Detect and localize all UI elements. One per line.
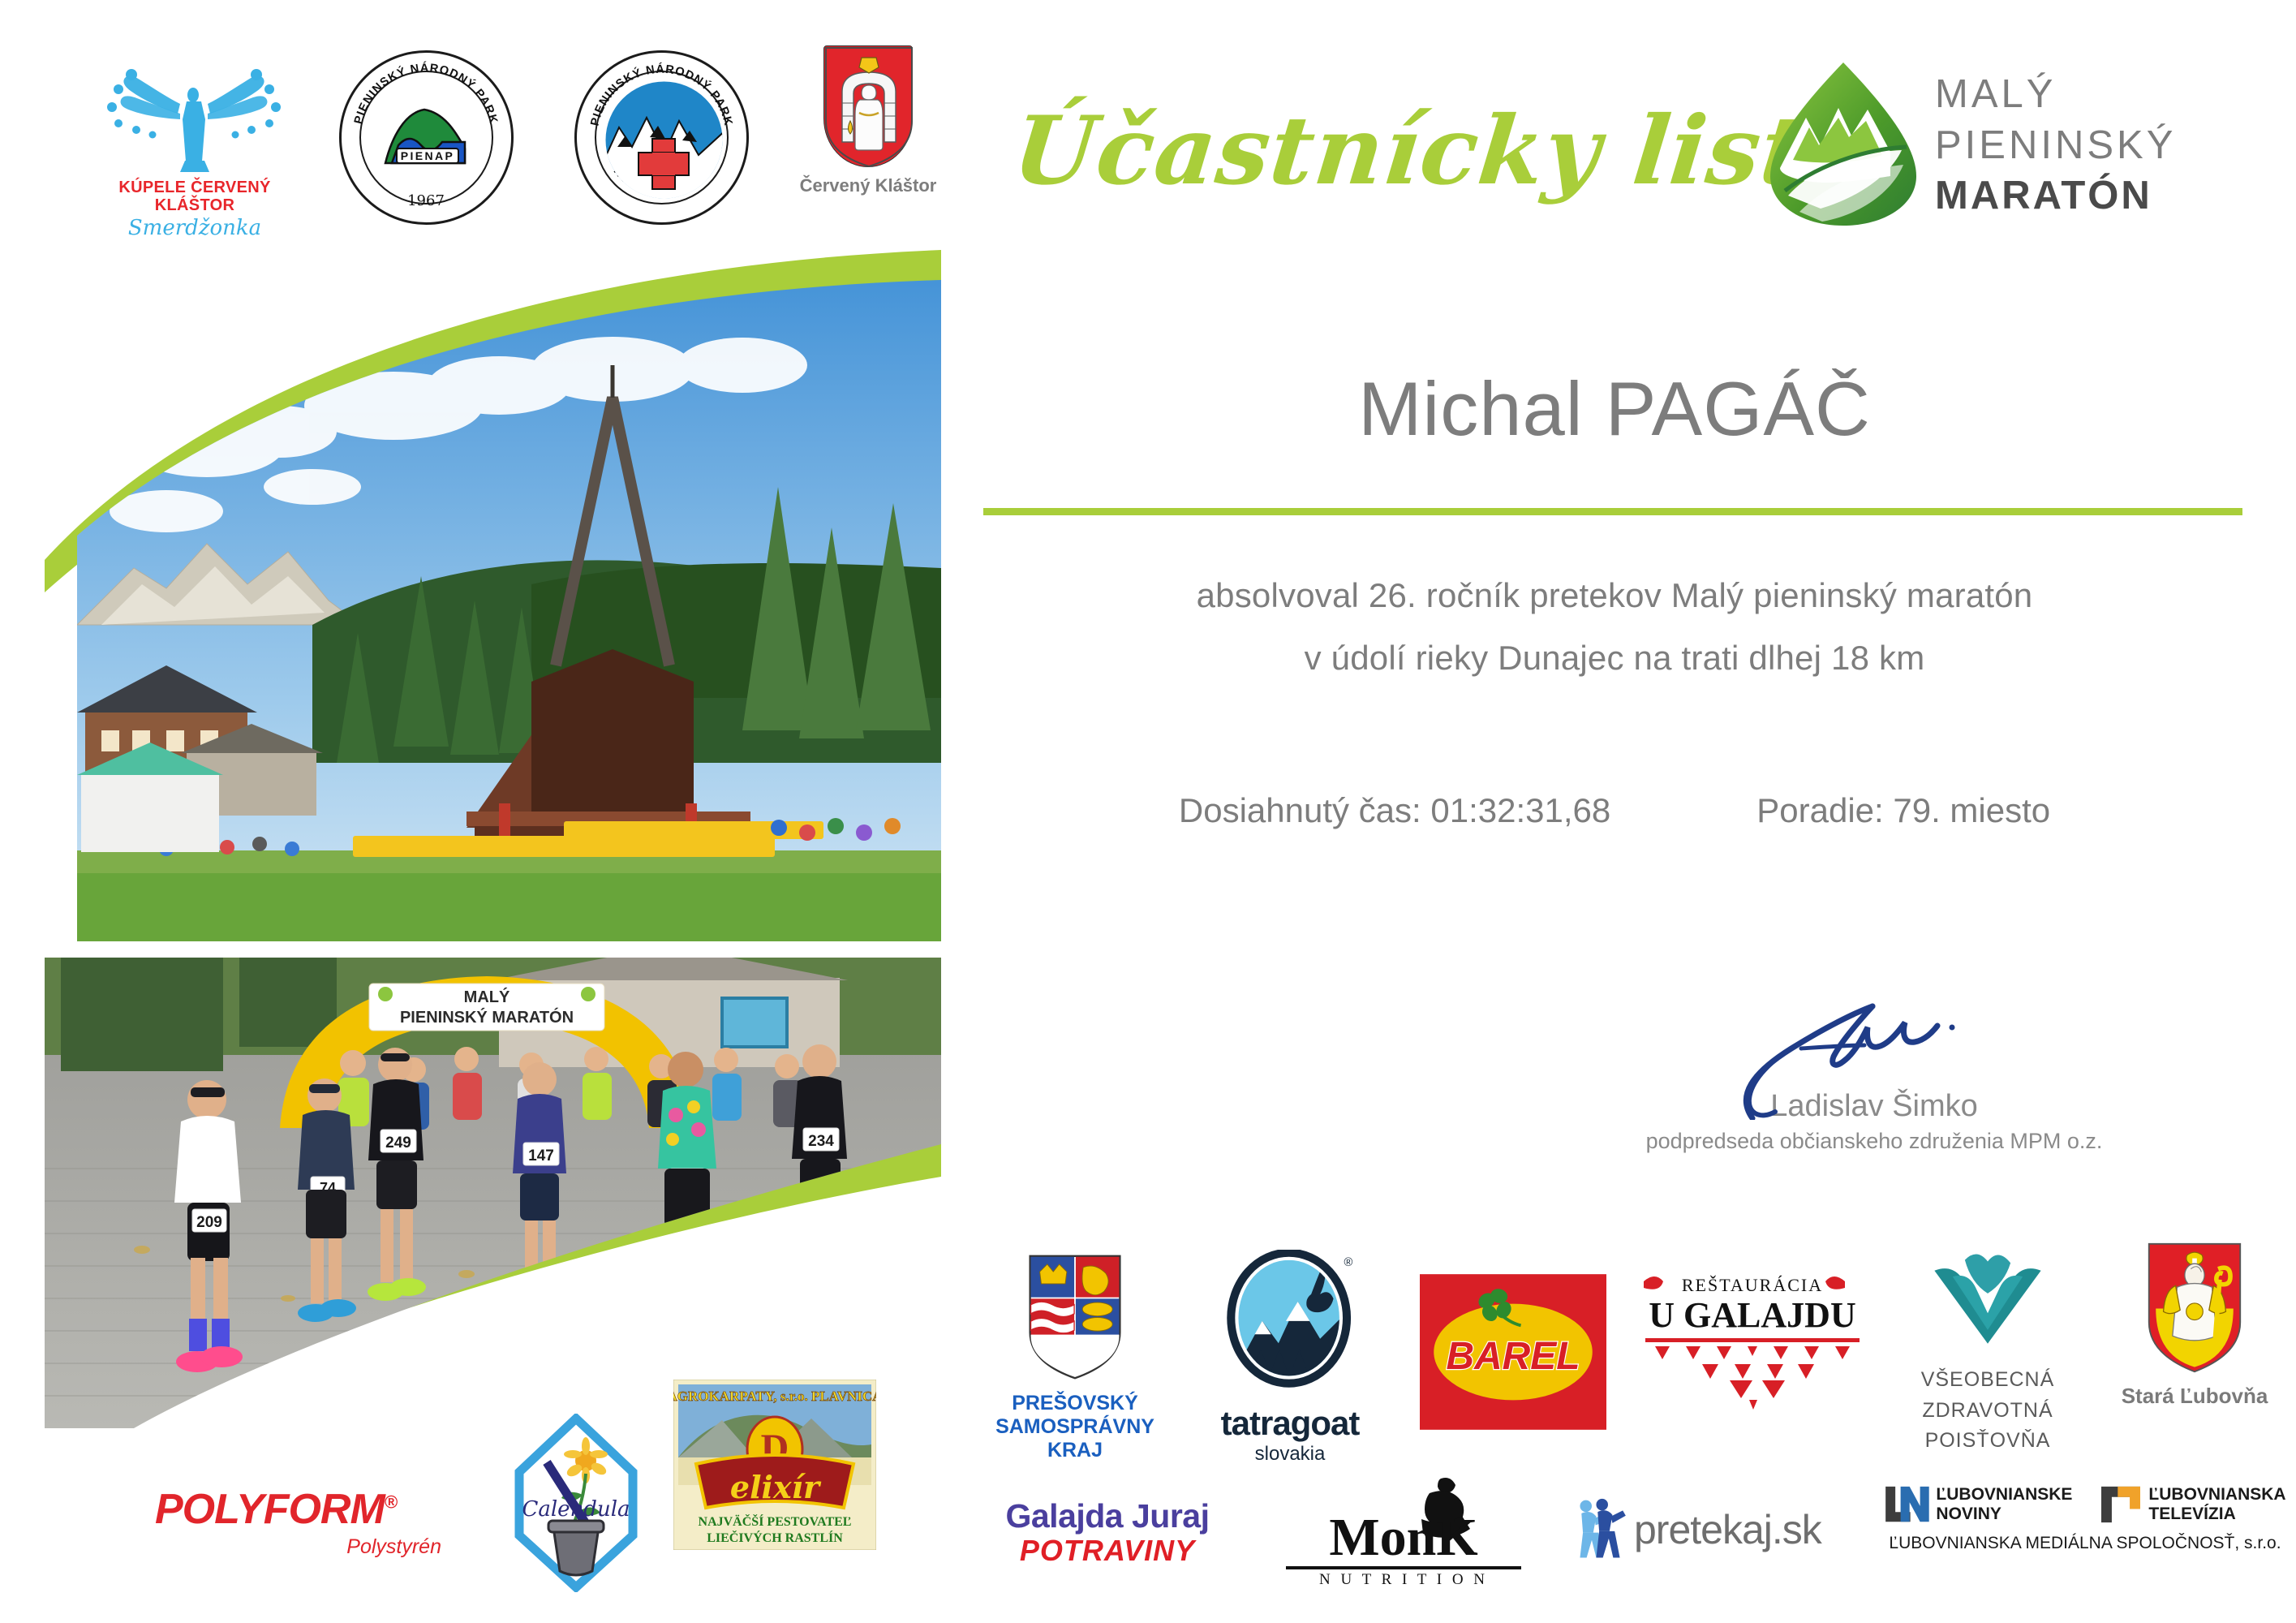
- rank: Poradie: 79. miesto: [1756, 791, 2050, 830]
- galajdu-line1: REŠTAURÁCIA: [1682, 1275, 1823, 1295]
- partner-logo-strip: KÚPELE ČERVENÝ KLÁŠTOR Smerdžonka PIENIN…: [0, 0, 974, 252]
- lt-logo-icon: [2100, 1485, 2142, 1524]
- handwritten-signature-icon: [1623, 1006, 2126, 1096]
- polyform-wordmark-icon: POLYFORM®: [105, 1485, 446, 1534]
- pretekaj-wordmark: pretekaj.sk: [1634, 1506, 1821, 1553]
- logo-kupele-label-bottom: Smerdžonka: [89, 216, 300, 240]
- sponsor-monk-nutrition: MonK N U T R I T I O N: [1282, 1477, 1525, 1589]
- logo-cerveny-klastor-label: Červený Kláštor: [791, 175, 945, 196]
- sponsor-vszp: VŠEOBECNÁ ZDRAVOTNÁ POISŤOVŇA: [1898, 1254, 2077, 1457]
- barel-oval-icon: BAREL: [1420, 1274, 1606, 1430]
- pienap-badge-icon: PIENAP: [381, 98, 471, 170]
- ln-logo-icon: [1884, 1485, 1929, 1524]
- tatragoat-registered-mark: ®: [1344, 1256, 1352, 1269]
- svg-text:147: 147: [528, 1147, 554, 1165]
- description-line-1: absolvoval 26. ročník pretekov Malý pien…: [982, 576, 2247, 615]
- elixir-bottom-1: NAJVÄČŠÍ PESTOVATEĽ: [699, 1513, 852, 1529]
- event-logo: MALÝ PIENINSKÝ MARATÓN: [1769, 61, 2272, 227]
- vszp-line1: VŠEOBECNÁ: [1898, 1365, 2077, 1396]
- finish-time: Dosiahnutý čas: 01:32:31,68: [1179, 791, 1610, 830]
- chamois-mountain-oval-icon: ®: [1223, 1250, 1357, 1398]
- event-logo-line1: MALÝ: [1935, 69, 2176, 120]
- vszp-line3: POISŤOVŇA: [1898, 1426, 2077, 1457]
- photo-festival-stage: [45, 243, 941, 966]
- svg-text:234: 234: [808, 1133, 834, 1150]
- psk-line1: PREŠOVSKÝ: [986, 1392, 1164, 1415]
- lt-line2: TELEVÍZIA: [2148, 1505, 2285, 1524]
- galajdu-folk-pattern-icon: [1639, 1335, 1866, 1412]
- sponsor-barel: BAREL: [1412, 1274, 1615, 1434]
- folk-ornament-icon: REŠTAURÁCIA U GALAJDU: [1639, 1270, 1866, 1335]
- signature-block: Ladislav Šimko podpredseda občianskeho z…: [1623, 1006, 2126, 1154]
- athlete-name: Michal PAGÁČ: [982, 365, 2247, 453]
- svg-text:209: 209: [196, 1214, 222, 1231]
- elixir-bottom-2: LIEČIVÝCH RASTLÍN: [707, 1530, 843, 1545]
- monk-subtitle: N U T R I T I O N: [1282, 1571, 1525, 1589]
- lt-line1: ĽUBOVNIANSKA: [2148, 1485, 2285, 1505]
- barel-wordmark: BAREL: [1446, 1335, 1580, 1378]
- logo-horska-sluzba: PIENINSKÝ NÁRODNÝ PARK HORSKÁ SLUŽBA: [560, 50, 763, 225]
- logo-cerveny-klastor: Červený Kláštor: [791, 45, 945, 196]
- ln-line1: ĽUBOVNIANSKE: [1936, 1485, 2072, 1505]
- monk-wordmark: MonK: [1329, 1508, 1477, 1567]
- ln-line2: NOVINY: [1936, 1505, 2072, 1524]
- mountain-cross-icon: [601, 77, 727, 203]
- two-runners-icon: [1574, 1497, 1626, 1562]
- presov-coat-of-arms-icon: [1026, 1254, 1124, 1381]
- event-logo-line3: MARATÓN: [1935, 170, 2176, 222]
- collage-artwork: MALÝ PIENINSKÝ MARATÓN: [45, 243, 941, 1428]
- logo-kupele-cerveny-klastor: KÚPELE ČERVENÝ KLÁŠTOR Smerdžonka: [89, 65, 300, 240]
- finish-time-value: 01:32:31,68: [1430, 791, 1610, 829]
- description-line-2: v údolí rieky Dunajec na trati dlhej 18 …: [982, 639, 2247, 678]
- galajda-line1: Galajda Juraj: [986, 1497, 1229, 1535]
- logo-kupele-label-top: KÚPELE ČERVENÝ KLÁŠTOR: [89, 179, 300, 214]
- sponsor-tatragoat: ® tatragoat slovakia: [1189, 1250, 1391, 1466]
- coat-of-arms-monk-icon: [823, 45, 913, 167]
- galajda-line2: POTRAVINY: [986, 1534, 1229, 1568]
- circular-seal-icon: PIENINSKÝ NÁRODNÝ PARK PIENAP 1967: [339, 50, 514, 225]
- vszp-line2: ZDRAVOTNÁ: [1898, 1396, 2077, 1427]
- vszp-chevron-heart-icon: [1927, 1254, 2049, 1353]
- sponsor-calendula: Calendula: [499, 1414, 653, 1596]
- signature-role: podpredseda občianskeho združenia MPM o.…: [1623, 1129, 2126, 1154]
- galajdu-line2: U GALAJDU: [1649, 1295, 1855, 1335]
- psk-line3: KRAJ: [986, 1439, 1164, 1462]
- svg-text:249: 249: [385, 1134, 411, 1152]
- svg-text:PIENINSKÝ MARATÓN: PIENINSKÝ MARATÓN: [400, 1007, 574, 1027]
- pienap-year: 1967: [342, 192, 511, 209]
- tatragoat-subtitle: slovakia: [1189, 1443, 1391, 1466]
- psk-line2: SAMOSPRÁVNY: [986, 1415, 1164, 1439]
- event-logo-line2: PIENINSKÝ: [1935, 120, 2176, 171]
- polyform-subtitle: Polystyrén: [105, 1535, 446, 1559]
- name-divider-rule: [983, 508, 2242, 515]
- sponsor-u-galajdu: REŠTAURÁCIA U GALAJDU: [1639, 1270, 1866, 1416]
- sponsor-presovsky-samospravny-kraj: PREŠOVSKÝ SAMOSPRÁVNY KRAJ: [986, 1254, 1164, 1462]
- elixir-wordmark: elixír: [730, 1469, 822, 1505]
- svg-text:PIENAP: PIENAP: [401, 149, 455, 162]
- rank-label: Poradie:: [1756, 791, 1883, 829]
- sponsor-agrokarpaty-elixir: AGROKARPATY, s.r.o. PLAVNICA D elixír NA…: [673, 1380, 876, 1554]
- svg-text:MALÝ: MALÝ: [464, 987, 510, 1006]
- photo-collage: MALÝ PIENINSKÝ MARATÓN: [45, 243, 941, 1428]
- sponsor-polyform: POLYFORM® Polystyrén: [105, 1485, 446, 1559]
- sponsor-lubovnianska-medialna: ĽUBOVNIANSKE NOVINY ĽUBOVNIANSKA TELEVÍZ…: [1874, 1485, 2296, 1553]
- tatragoat-wordmark: tatragoat: [1189, 1404, 1391, 1443]
- sponsor-galajda-juraj: Galajda Juraj POTRAVINY: [986, 1497, 1229, 1568]
- page-title: Účastnícky list: [1008, 96, 1750, 206]
- media-footer: ĽUBOVNIANSKA MEDIÁLNA SPOLOČNOSŤ, s.r.o.: [1874, 1534, 2296, 1553]
- circular-seal-mountain-cross-icon: PIENINSKÝ NÁRODNÝ PARK HORSKÁ SLUŽBA: [574, 50, 749, 225]
- angel-water-wings-icon: [89, 65, 300, 179]
- sponsor-pretekaj: pretekaj.sk: [1574, 1497, 1842, 1562]
- sponsor-stara-lubovna: Stará Ľubovňa: [2101, 1242, 2288, 1409]
- result-row: Dosiahnutý čas: 01:32:31,68 Poradie: 79.…: [982, 791, 2247, 830]
- leaf-mountain-icon: [1769, 61, 1919, 227]
- calendula-wordmark: Calendula: [522, 1497, 630, 1522]
- bishop-coat-of-arms-icon: [2145, 1242, 2244, 1375]
- stara-lubovna-label: Stará Ľubovňa: [2101, 1384, 2288, 1409]
- elixir-label-icon: AGROKARPATY, s.r.o. PLAVNICA D elixír NA…: [673, 1380, 876, 1550]
- rank-value: 79. miesto: [1893, 791, 2050, 829]
- elixir-top-text: AGROKARPATY, s.r.o. PLAVNICA: [673, 1388, 876, 1404]
- mortar-pestle-flower-icon: Calendula: [511, 1414, 641, 1592]
- logo-pienap: PIENINSKÝ NÁRODNÝ PARK PIENAP 1967: [325, 50, 527, 225]
- finish-time-label: Dosiahnutý čas:: [1179, 791, 1421, 829]
